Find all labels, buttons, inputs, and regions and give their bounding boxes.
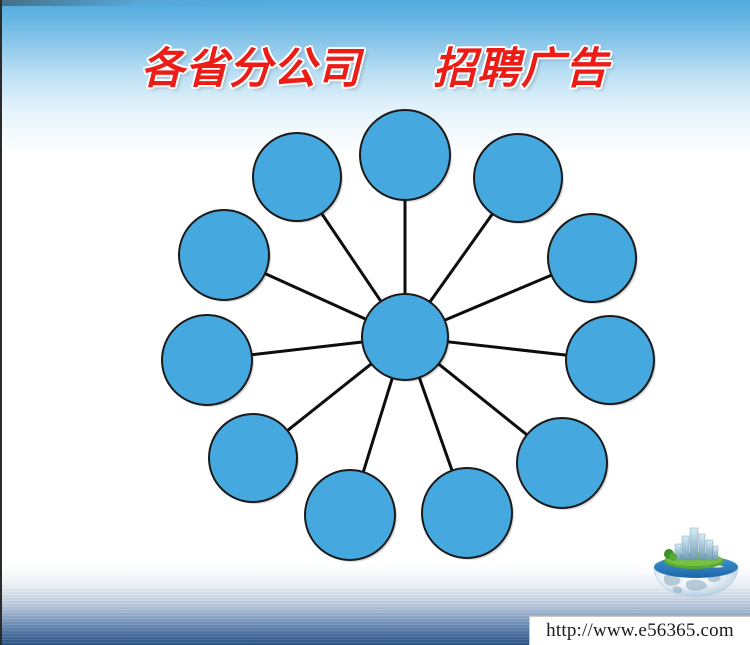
- node-circle-upper-left[interactable]: [253, 133, 343, 223]
- spoke-line-7: [363, 377, 393, 473]
- node-circle-top[interactable]: [360, 110, 452, 202]
- node-circle-right-upper[interactable]: [548, 214, 638, 304]
- spoke-line-11: [321, 213, 381, 303]
- spoke-line-4: [447, 342, 568, 356]
- node-circle-bottom-left[interactable]: [305, 470, 397, 562]
- globe-city-logo: [646, 524, 746, 614]
- node-shape[interactable]: [305, 470, 395, 560]
- node-circle-lower-left[interactable]: [209, 414, 299, 504]
- node-shape[interactable]: [422, 468, 512, 558]
- hub-shape[interactable]: [362, 294, 448, 380]
- node-shape[interactable]: [474, 134, 562, 222]
- node-shape[interactable]: [517, 418, 607, 508]
- node-circle-upper-right[interactable]: [474, 134, 564, 224]
- spoke-line-6: [419, 377, 452, 472]
- watermark-url-text: http://www.e56365.com: [546, 620, 734, 642]
- hub-circle[interactable]: [362, 294, 450, 382]
- spoke-line-2: [429, 213, 493, 303]
- node-shape[interactable]: [360, 110, 450, 200]
- node-shape[interactable]: [548, 214, 636, 302]
- node-shape[interactable]: [253, 133, 341, 221]
- node-circle-bottom-right[interactable]: [422, 468, 514, 560]
- node-shape[interactable]: [179, 210, 269, 300]
- spoke-line-9: [251, 342, 364, 355]
- node-circle-lower-right[interactable]: [517, 418, 609, 510]
- node-shape[interactable]: [566, 316, 654, 404]
- node-shape[interactable]: [209, 414, 297, 502]
- spoke-line-3: [444, 275, 553, 321]
- node-circle-left[interactable]: [162, 315, 254, 407]
- watermark-url-box: http://www.e56365.com: [529, 616, 750, 645]
- slide-canvas: 各省分公司 招聘广告: [0, 0, 750, 645]
- node-circle-left-upper[interactable]: [179, 210, 271, 302]
- radial-hub-and-spoke-diagram: [0, 0, 750, 645]
- node-circle-right[interactable]: [566, 316, 656, 406]
- spoke-line-10: [264, 273, 367, 320]
- node-shape[interactable]: [162, 315, 252, 405]
- spoke-line-8: [287, 363, 372, 431]
- hub-circle-group: [362, 294, 450, 382]
- spoke-line-5: [438, 363, 528, 435]
